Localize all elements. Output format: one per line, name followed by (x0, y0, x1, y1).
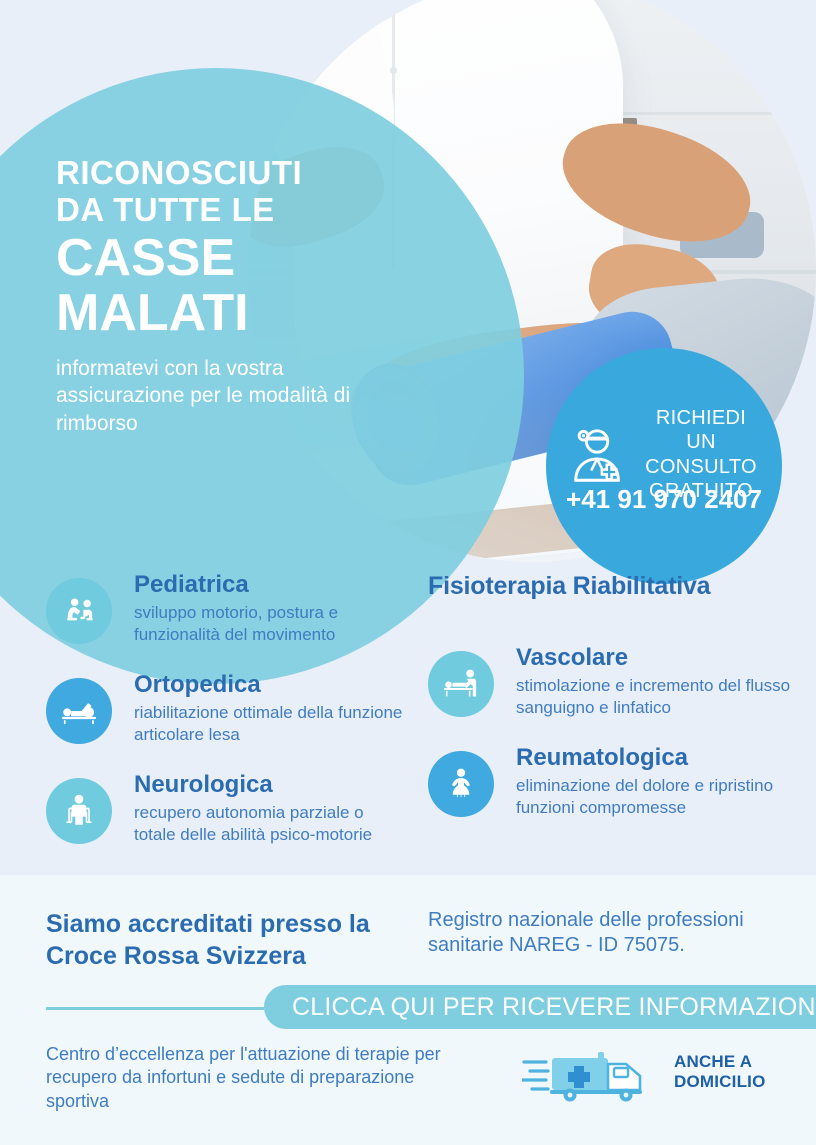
pain-relief-icon (428, 751, 494, 817)
service-name: Pediatrica (134, 572, 406, 598)
service-item-neurologica[interactable]: Neurologica recupero autonomia parziale … (46, 772, 406, 868)
service-name: Neurologica (134, 772, 406, 798)
service-name: Ortopedica (134, 672, 406, 698)
registry-text: Registro nazionale delle professioni san… (428, 908, 798, 958)
service-item-reumatologica[interactable]: Reumatologica eliminazione del dolore e … (428, 745, 798, 841)
poster: RICONOSCIUTI DA TUTTE LE CASSE MALATI in… (0, 0, 816, 1145)
service-item-ortopedica[interactable]: Ortopedica riabilitazione ottimale della… (46, 672, 406, 768)
phone-number[interactable]: +41 91 970 2407 (546, 484, 782, 515)
headline-line-2: DA TUTTE LE (56, 192, 416, 229)
home-service-badge: ANCHE A DOMICILIO (522, 1046, 792, 1104)
home-service-label: ANCHE A DOMICILIO (674, 1052, 766, 1091)
free-consultation-badge[interactable]: RICHIEDI UN CONSULTO GRATUITO +41 91 970… (546, 348, 782, 584)
child-therapy-icon (46, 578, 112, 644)
services-column-right: Fisioterapia Riabilitativa Vascolare (428, 572, 798, 845)
cta-divider-rule (46, 1007, 264, 1010)
headline-line-4: MALATI (56, 286, 416, 341)
service-name: Reumatologica (516, 745, 798, 771)
service-description: riabilitazione ottimale della funzione a… (134, 702, 406, 746)
home-service-line-2: DOMICILIO (674, 1072, 766, 1092)
doctor-icon (568, 426, 630, 488)
services-section: Pediatrica sviluppo motorio, postura e f… (0, 560, 816, 870)
service-description: recupero autonomia parziale o totale del… (134, 802, 406, 846)
services-column-left: Pediatrica sviluppo motorio, postura e f… (46, 572, 406, 872)
cta-button[interactable]: CLICCA QUI PER RICEVERE INFORMAZIONI (264, 985, 816, 1029)
walker-patient-icon (46, 778, 112, 844)
footer-note: Centro d’eccellenza per l'attuazione di … (46, 1043, 446, 1113)
ambulance-icon (522, 1046, 670, 1102)
consult-line-1: RICHIEDI (628, 406, 774, 430)
headline-subtext: informatevi con la vostra assicurazione … (56, 355, 416, 437)
service-description: sviluppo motorio, postura e funzionalità… (134, 602, 406, 646)
hero-headline-block: RICONOSCIUTI DA TUTTE LE CASSE MALATI in… (56, 155, 416, 437)
headline-line-1: RICONOSCIUTI (56, 155, 416, 192)
service-name: Vascolare (516, 645, 798, 671)
massage-therapy-icon (428, 651, 494, 717)
service-item-vascolare[interactable]: Vascolare stimolazione e incremento del … (428, 645, 798, 741)
headline-line-3: CASSE (56, 231, 416, 286)
home-service-line-1: ANCHE A (674, 1052, 766, 1072)
service-item-pediatrica[interactable]: Pediatrica sviluppo motorio, postura e f… (46, 572, 406, 668)
patient-on-table-icon (46, 678, 112, 744)
service-description: stimolazione e incremento del flusso san… (516, 675, 798, 719)
service-description: eliminazione del dolore e ripristino fun… (516, 775, 798, 819)
accreditation-heading: Siamo accreditati presso la Croce Rossa … (46, 908, 406, 972)
consult-line-2: UN CONSULTO (628, 430, 774, 479)
services-column-title: Fisioterapia Riabilitativa (428, 572, 798, 601)
